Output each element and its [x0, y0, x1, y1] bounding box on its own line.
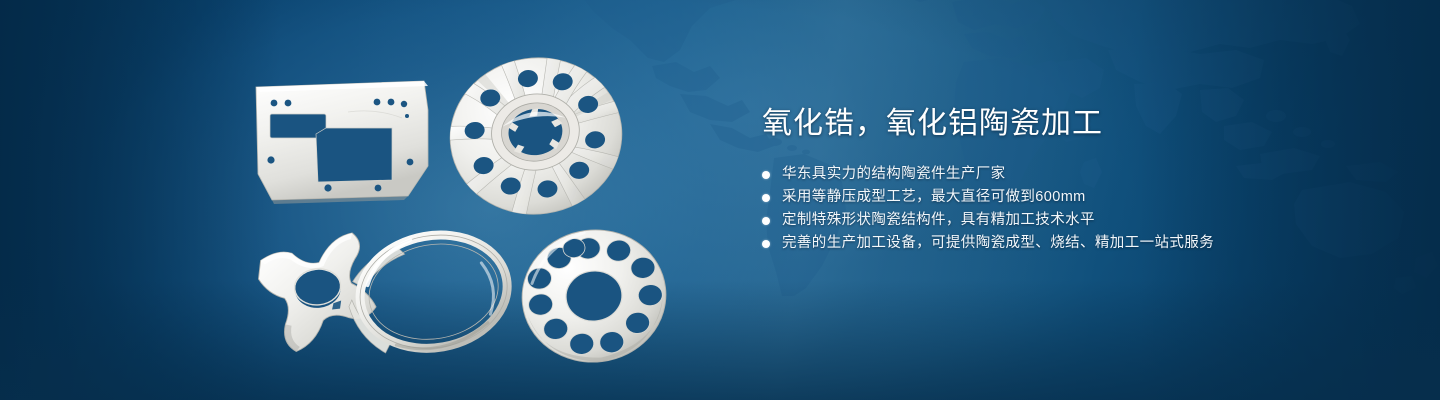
feature-list: 华东具实力的结构陶瓷件生产厂家 采用等静压成型工艺，最大直径可做到600mm 定… — [762, 167, 1302, 251]
list-item: 华东具实力的结构陶瓷件生产厂家 — [762, 167, 1302, 182]
feature-text: 完善的生产加工设备，可提供陶瓷成型、烧结、精加工一站式服务 — [782, 236, 1214, 251]
product-photo-group — [0, 0, 720, 400]
bullet-dot-icon — [762, 171, 770, 179]
ceramic-plate-part — [252, 78, 442, 204]
banner-copy: 氧化锆，氧化铝陶瓷加工 华东具实力的结构陶瓷件生产厂家 采用等静压成型工艺，最大… — [762, 106, 1302, 259]
list-item: 完善的生产加工设备，可提供陶瓷成型、烧结、精加工一站式服务 — [762, 236, 1302, 251]
bullet-dot-icon — [762, 194, 770, 202]
feature-text: 华东具实力的结构陶瓷件生产厂家 — [782, 167, 1006, 182]
bullet-dot-icon — [762, 240, 770, 248]
list-item: 采用等静压成型工艺，最大直径可做到600mm — [762, 190, 1302, 205]
feature-text: 采用等静压成型工艺，最大直径可做到600mm — [782, 190, 1086, 205]
page-title: 氧化锆，氧化铝陶瓷加工 — [762, 106, 1302, 141]
feature-text: 定制特殊形状陶瓷结构件，具有精加工技术水平 — [782, 213, 1095, 228]
bullet-dot-icon — [762, 217, 770, 225]
list-item: 定制特殊形状陶瓷结构件，具有精加工技术水平 — [762, 213, 1302, 228]
ceramic-ring-part — [348, 228, 518, 360]
promo-banner: 氧化锆，氧化铝陶瓷加工 华东具实力的结构陶瓷件生产厂家 采用等静压成型工艺，最大… — [0, 0, 1440, 400]
ceramic-impeller-part — [448, 52, 624, 216]
ceramic-disc-part — [518, 226, 670, 368]
